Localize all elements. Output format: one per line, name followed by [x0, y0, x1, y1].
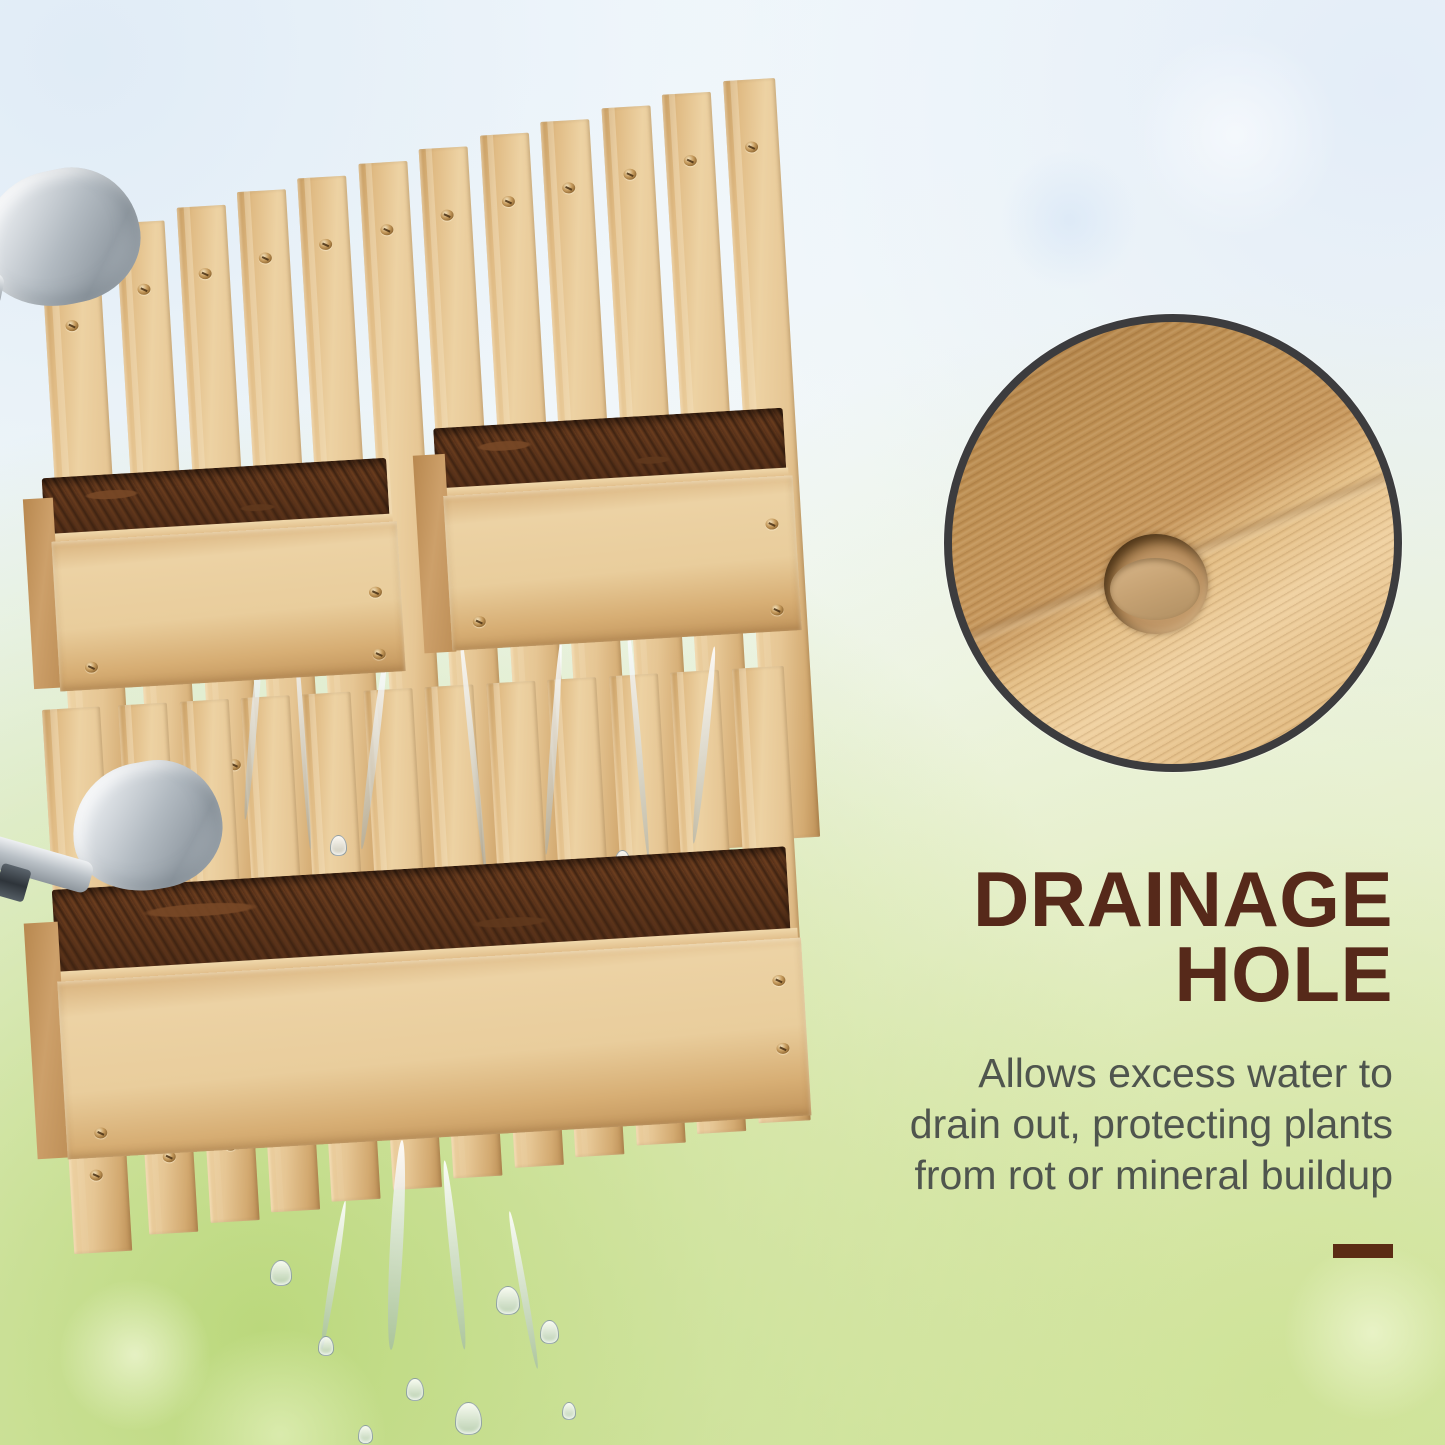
water-droplet — [406, 1378, 424, 1401]
water-droplet — [318, 1336, 334, 1356]
upper-right-planter — [411, 407, 815, 670]
product-photo — [0, 150, 860, 1330]
water-droplet — [358, 1425, 373, 1444]
page-title: DRAINAGE HOLE — [783, 862, 1393, 1012]
text-column: DRAINAGE HOLE Allows excess water to dra… — [783, 862, 1393, 1258]
upper-left-planter — [22, 457, 415, 704]
water-droplet — [540, 1320, 559, 1344]
subcopy-line-3: from rot or mineral buildup — [783, 1150, 1393, 1201]
description-text: Allows excess water to drain out, protec… — [783, 1048, 1393, 1202]
water-droplet — [270, 1260, 292, 1286]
lower-long-planter — [22, 845, 828, 1191]
water-droplet — [455, 1402, 482, 1435]
headline-line-1: DRAINAGE — [783, 862, 1393, 937]
headline-line-2: HOLE — [783, 937, 1393, 1012]
water-droplet — [496, 1286, 520, 1315]
water-droplet — [562, 1402, 576, 1420]
planter-front-panel — [51, 521, 405, 691]
bokeh-circle — [1000, 150, 1140, 290]
drainage-hole-icon — [1104, 534, 1208, 634]
bokeh-circle — [175, 1330, 385, 1445]
banner-canvas: DRAINAGE HOLE Allows excess water to dra… — [0, 0, 1445, 1445]
bokeh-circle — [1285, 1245, 1445, 1420]
accent-dash — [1333, 1244, 1393, 1258]
planter-front-panel — [443, 475, 802, 650]
bokeh-circle — [1130, 30, 1340, 240]
drainage-hole-closeup-inset — [944, 314, 1402, 772]
subcopy-line-2: drain out, protecting plants — [783, 1099, 1393, 1150]
subcopy-line-1: Allows excess water to — [783, 1048, 1393, 1099]
watering-can-rose-middle — [62, 750, 232, 902]
